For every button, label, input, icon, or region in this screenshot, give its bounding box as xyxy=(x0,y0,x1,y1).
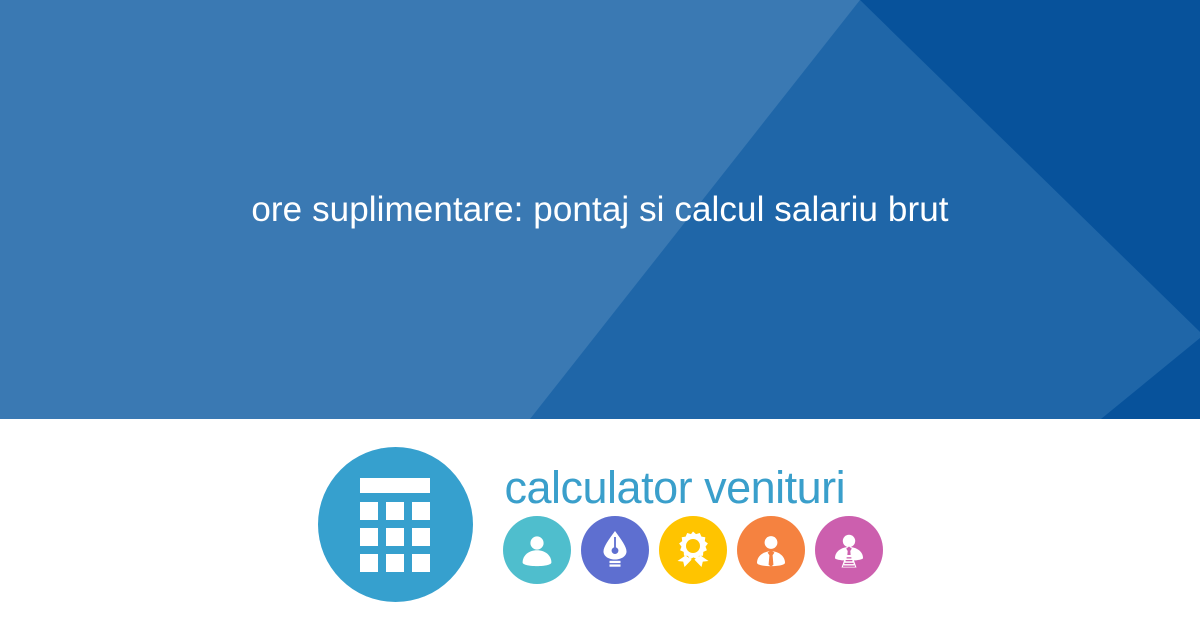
calculator-key xyxy=(386,554,404,572)
businessman-glyph xyxy=(752,531,790,569)
calculator-keys xyxy=(360,502,430,572)
calculator-key xyxy=(360,502,378,520)
award-ribbon-icon xyxy=(659,516,727,584)
calculator-key xyxy=(412,528,430,546)
brand-lockup: calculator venituri xyxy=(0,419,1200,630)
banner: ore suplimentare: pontaj si calcul salar… xyxy=(0,0,1200,419)
brand-wordmark: calculator venituri xyxy=(501,465,883,510)
calculator-key xyxy=(386,528,404,546)
calculator-display xyxy=(360,478,430,493)
page-title: ore suplimentare: pontaj si calcul salar… xyxy=(0,0,1200,419)
calculator-key xyxy=(360,554,378,572)
brand-icon-row xyxy=(501,516,883,584)
person-icon xyxy=(503,516,571,584)
pen-nib-glyph xyxy=(598,530,632,570)
judge-desk-icon xyxy=(815,516,883,584)
calculator-key xyxy=(386,502,404,520)
share-card: ore suplimentare: pontaj si calcul salar… xyxy=(0,0,1200,630)
footer: calculator venituri xyxy=(0,419,1200,630)
calculator-key xyxy=(412,502,430,520)
award-ribbon-glyph xyxy=(673,530,713,570)
brand-text-block: calculator venituri xyxy=(501,465,883,584)
calculator-body xyxy=(360,478,430,572)
calculator-icon xyxy=(318,447,473,602)
businessman-icon xyxy=(737,516,805,584)
calculator-key xyxy=(412,554,430,572)
judge-desk-glyph xyxy=(829,531,869,569)
person-glyph xyxy=(518,531,556,569)
pen-nib-icon xyxy=(581,516,649,584)
calculator-key xyxy=(360,528,378,546)
